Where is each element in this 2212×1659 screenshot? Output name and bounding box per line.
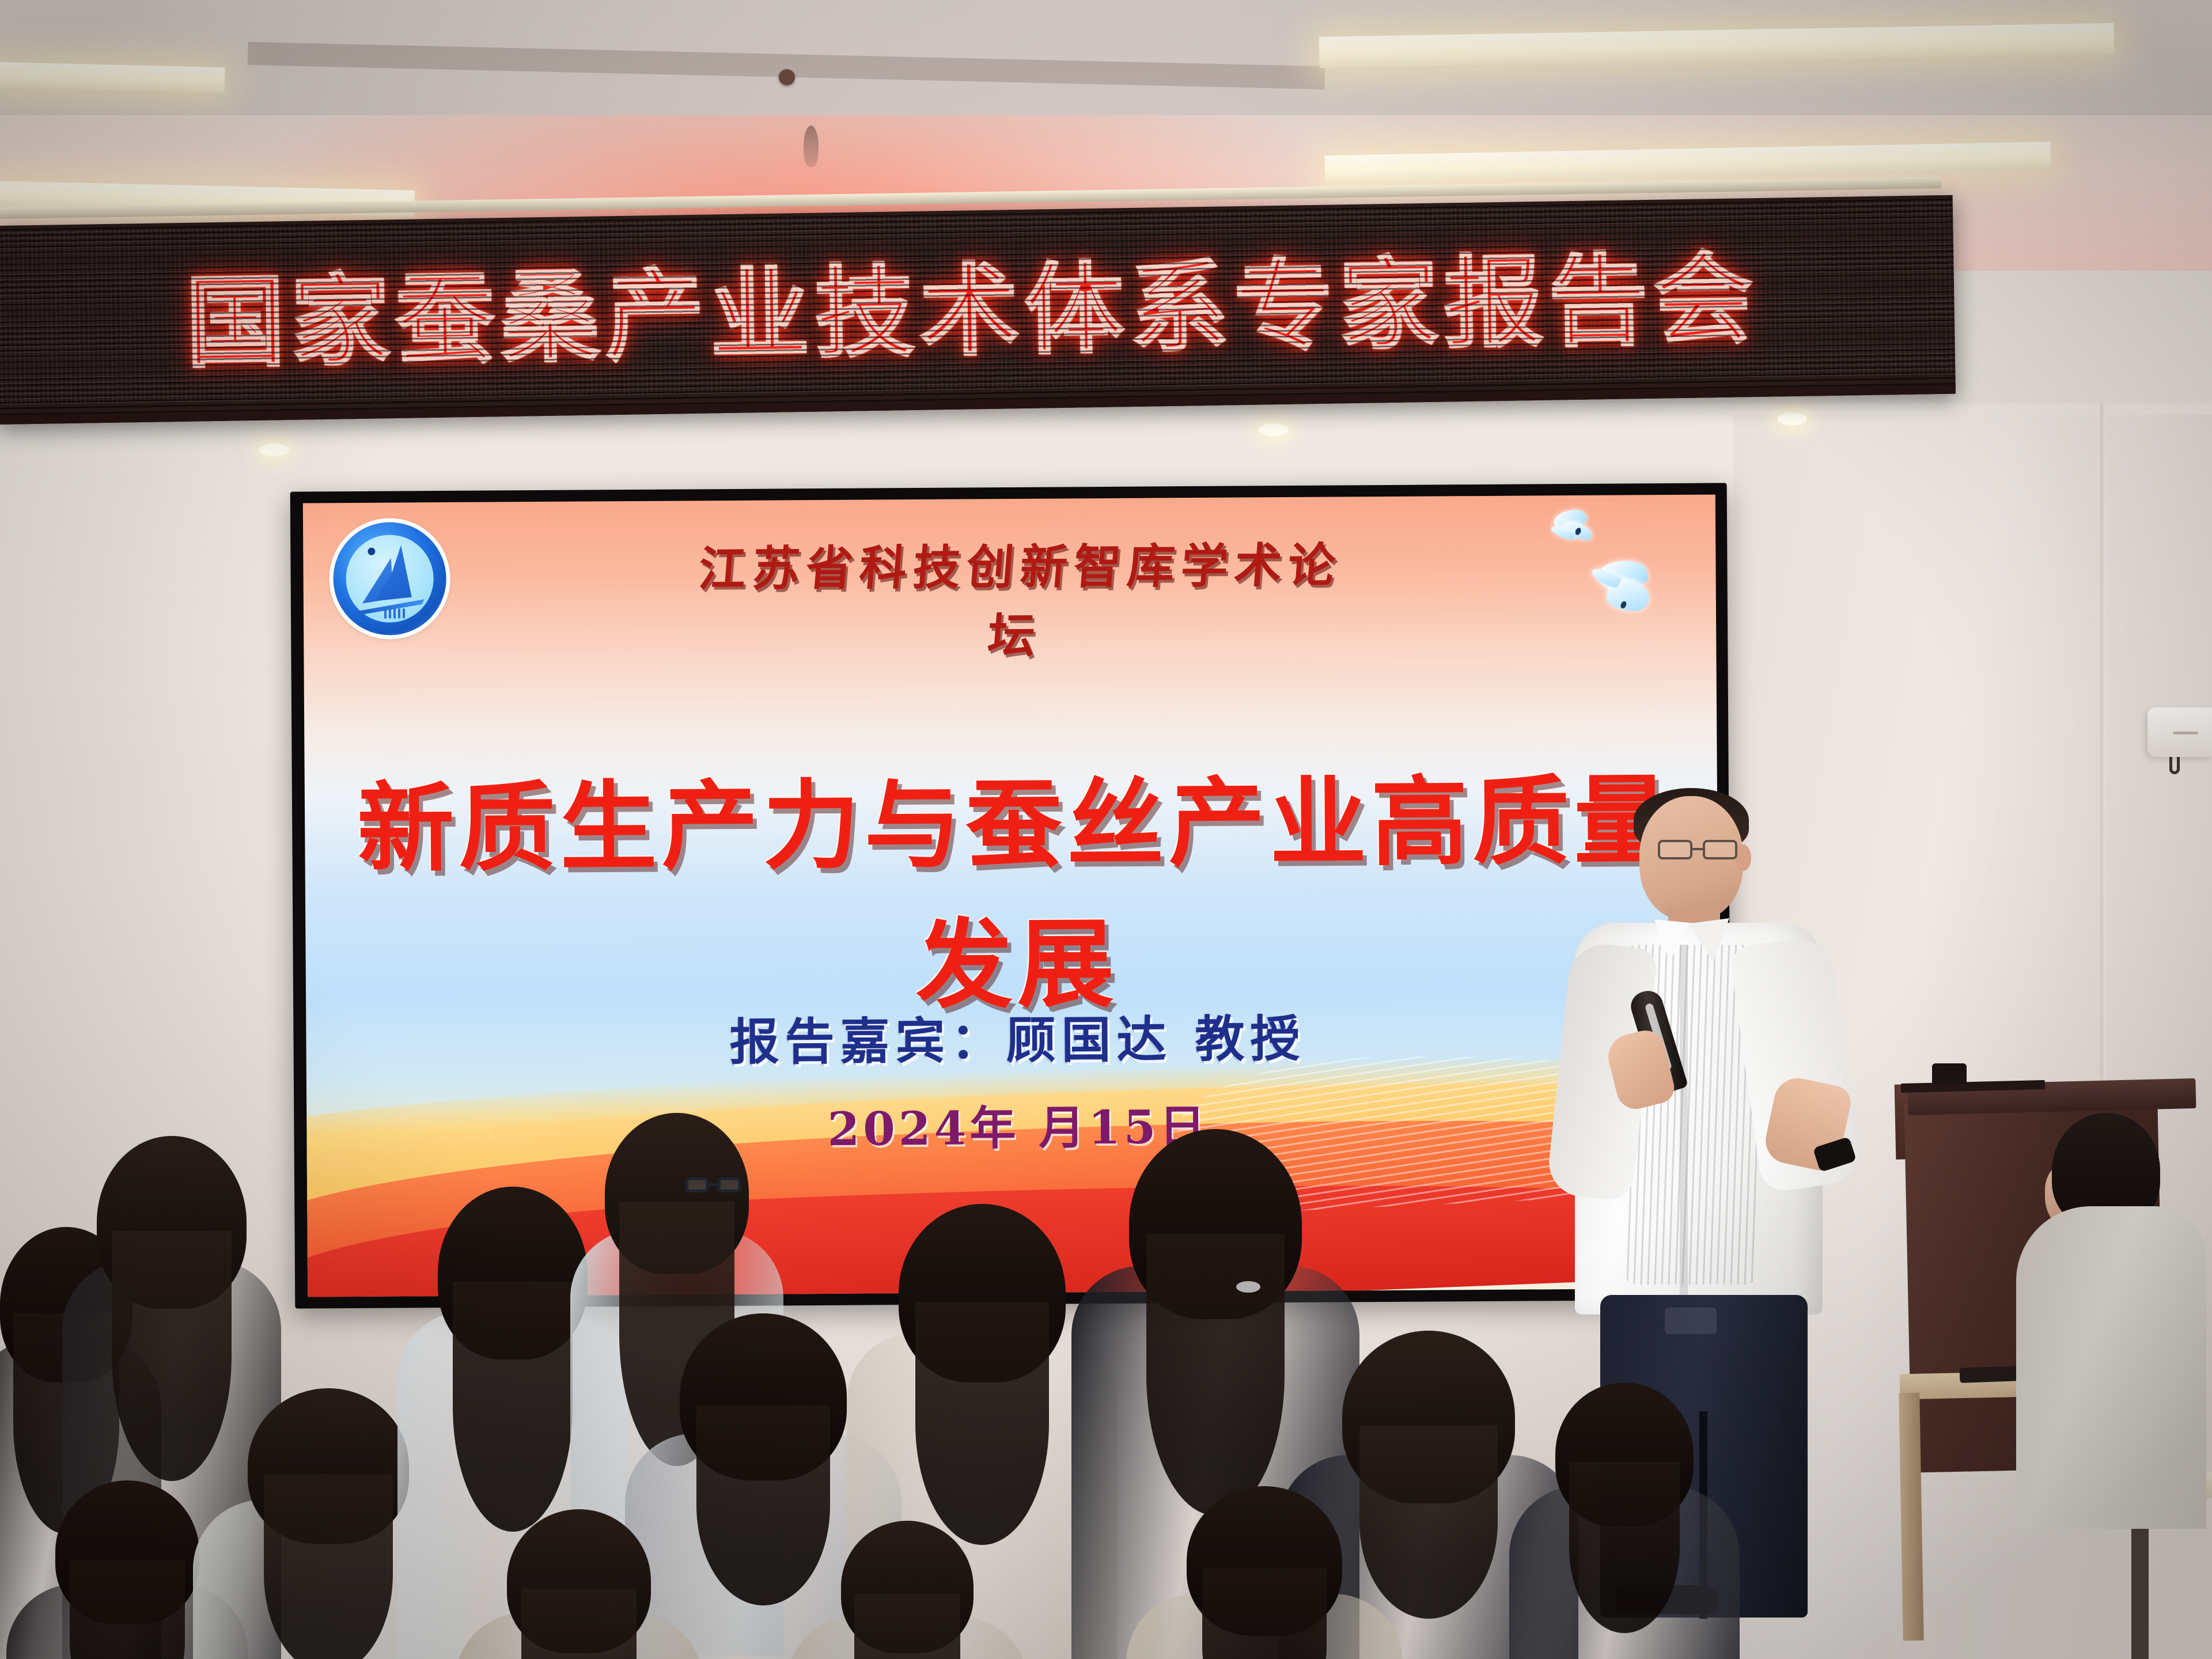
attendee-glasses-icon xyxy=(685,1177,741,1192)
glasses-bridge xyxy=(1692,848,1704,850)
sailboat-emblem-icon xyxy=(333,522,446,635)
attendee-hair xyxy=(1569,1462,1680,1634)
slide-guest-line: 报告嘉宾：顾国达 教授 xyxy=(317,996,1718,1077)
sprinkler-head-icon xyxy=(804,126,819,167)
attendee-hair xyxy=(854,1594,960,1659)
attendee-hair xyxy=(264,1474,393,1659)
glasses-lens-right xyxy=(718,1177,741,1192)
attendee-hair xyxy=(915,1302,1049,1546)
audience xyxy=(0,1083,1901,1659)
glasses-lens-left xyxy=(685,1177,709,1192)
ceiling-downlight-3 xyxy=(1777,412,1807,425)
slide-main-title: 新质生产力与蚕丝产业高质量发展 xyxy=(316,743,1717,1031)
attendee-hair xyxy=(112,1231,232,1481)
attendee-hair xyxy=(696,1406,830,1605)
ceiling-light-strip-lower-right xyxy=(1325,142,2051,184)
led-banner-text: 国家蚕桑产业技术体系专家报告会 xyxy=(184,218,1742,386)
glasses-lens-right xyxy=(1703,840,1737,859)
ac-vent-slot xyxy=(2173,732,2198,734)
attendee-hair xyxy=(1359,1426,1498,1619)
dove-icon-2 xyxy=(1590,558,1659,622)
emblem-dot xyxy=(368,548,375,555)
ac-cord xyxy=(2169,757,2180,774)
attendee-hair xyxy=(1202,1569,1327,1659)
attendee-hair-tie xyxy=(1236,1281,1260,1293)
attendee-hair xyxy=(453,1282,573,1532)
glasses-bridge xyxy=(709,1183,718,1186)
ceiling-downlight-2 xyxy=(1259,423,1289,436)
podium-microphone-icon xyxy=(1932,1063,1967,1084)
slide-subtitle: 江苏省科技创新智库学术论坛 xyxy=(666,527,1369,668)
glasses-lens-left xyxy=(1658,840,1692,859)
attendee-hair xyxy=(1146,1234,1285,1516)
led-scrolling-banner: 国家蚕桑产业技术体系专家报告会 xyxy=(0,195,1956,425)
lecture-hall-photo: 国家蚕桑产业技术体系专家报告会 xyxy=(0,0,2212,1659)
dove-icon-1 xyxy=(1550,508,1596,552)
ceiling-downlight-1 xyxy=(259,444,289,456)
attendee-hair xyxy=(521,1589,637,1659)
presenter-glasses-icon xyxy=(1658,840,1744,859)
seated-attendee-right xyxy=(1990,1113,2212,1528)
smoke-detector-icon xyxy=(779,69,795,85)
ceiling-light-strip-left xyxy=(0,62,225,93)
attendee-hair xyxy=(70,1560,185,1659)
emblem-bars xyxy=(384,608,405,618)
seated-attendee-body xyxy=(2016,1206,2206,1529)
